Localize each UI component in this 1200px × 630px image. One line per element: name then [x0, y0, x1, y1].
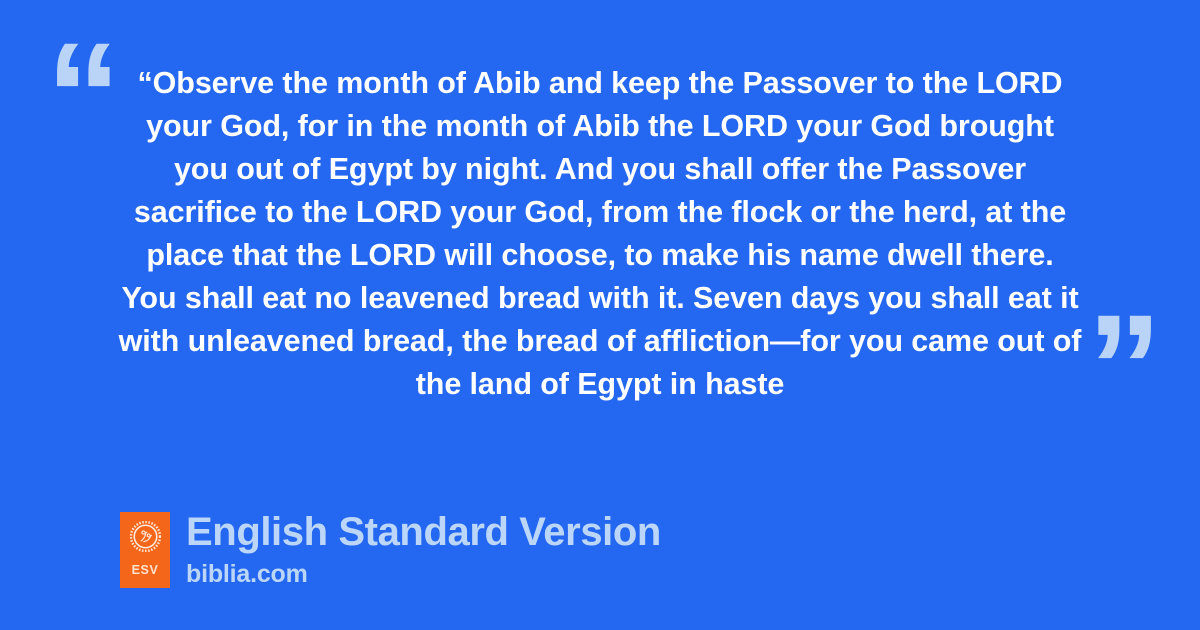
site-name: biblia.com — [186, 561, 661, 589]
esv-logo-badge: ESV — [120, 512, 170, 588]
esv-seal-icon — [130, 521, 161, 552]
esv-badge-label: ESV — [132, 563, 159, 577]
attribution-text: English Standard Version biblia.com — [186, 511, 661, 588]
quote-block: “Observe the month of Abib and keep the … — [60, 62, 1140, 406]
attribution: ESV English Standard Version biblia.com — [120, 511, 661, 588]
bible-version-name: English Standard Version — [186, 511, 661, 554]
quote-text: “Observe the month of Abib and keep the … — [60, 62, 1140, 406]
verse-image-card: “ “Observe the month of Abib and keep th… — [0, 0, 1200, 630]
closing-quotation-mark-icon: ” — [1087, 292, 1160, 442]
